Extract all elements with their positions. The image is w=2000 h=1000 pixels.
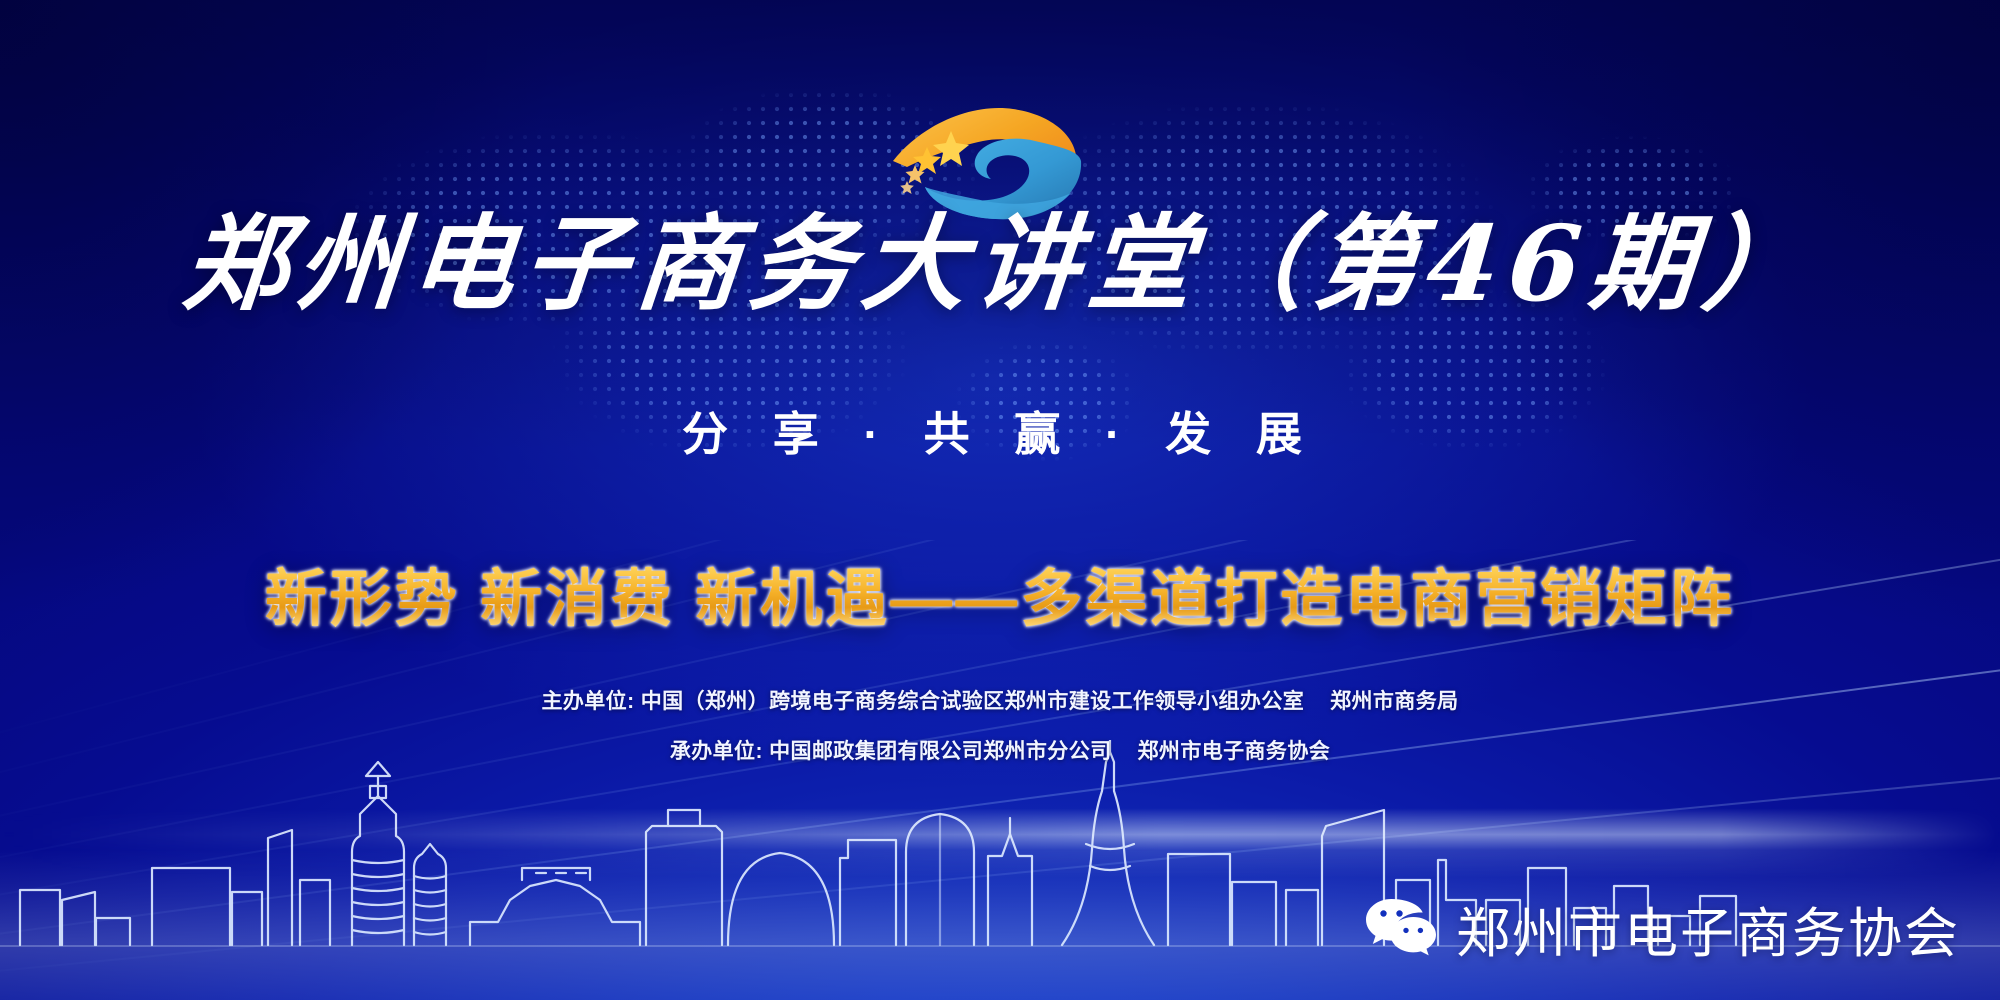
organizer-line-host: 主办单位: 中国（郑州）跨境电子商务综合试验区郑州市建设工作领导小组办公室郑州市…: [0, 685, 2000, 715]
organizer-label-coorganizer: 承办单位:: [670, 740, 763, 763]
wechat-account-badge: 郑州市电子商务协会: [1364, 889, 1960, 968]
page-title: 郑州电子商务大讲堂（第46期）: [0, 212, 2000, 316]
wechat-icon: [1364, 897, 1438, 961]
organizer-name-host-1: 中国（郑州）跨境电子商务综合试验区郑州市建设工作领导小组办公室: [641, 690, 1304, 713]
floor-highlight: [0, 808, 2000, 878]
headline: 新形势 新消费 新机遇——多渠道打造电商营销矩阵: [0, 548, 2000, 638]
subtitle: 分 享 · 共 赢 · 发 展: [0, 398, 2000, 464]
organizer-name-host-2: 郑州市商务局: [1330, 690, 1458, 713]
organizer-line-coorganizer: 承办单位: 中国邮政集团有限公司郑州市分公司郑州市电子商务协会: [0, 735, 2000, 765]
organizer-name-coorganizer-2: 郑州市电子商务协会: [1138, 740, 1331, 763]
event-poster: 郑州电子商务大讲堂（第46期） 分 享 · 共 赢 · 发 展 新形势 新消费 …: [0, 0, 2000, 1000]
organizer-name-coorganizer-1: 中国邮政集团有限公司郑州市分公司: [769, 740, 1111, 763]
organizer-label-host: 主办单位:: [541, 690, 634, 713]
wechat-account-name: 郑州市电子商务协会: [1456, 889, 1960, 968]
